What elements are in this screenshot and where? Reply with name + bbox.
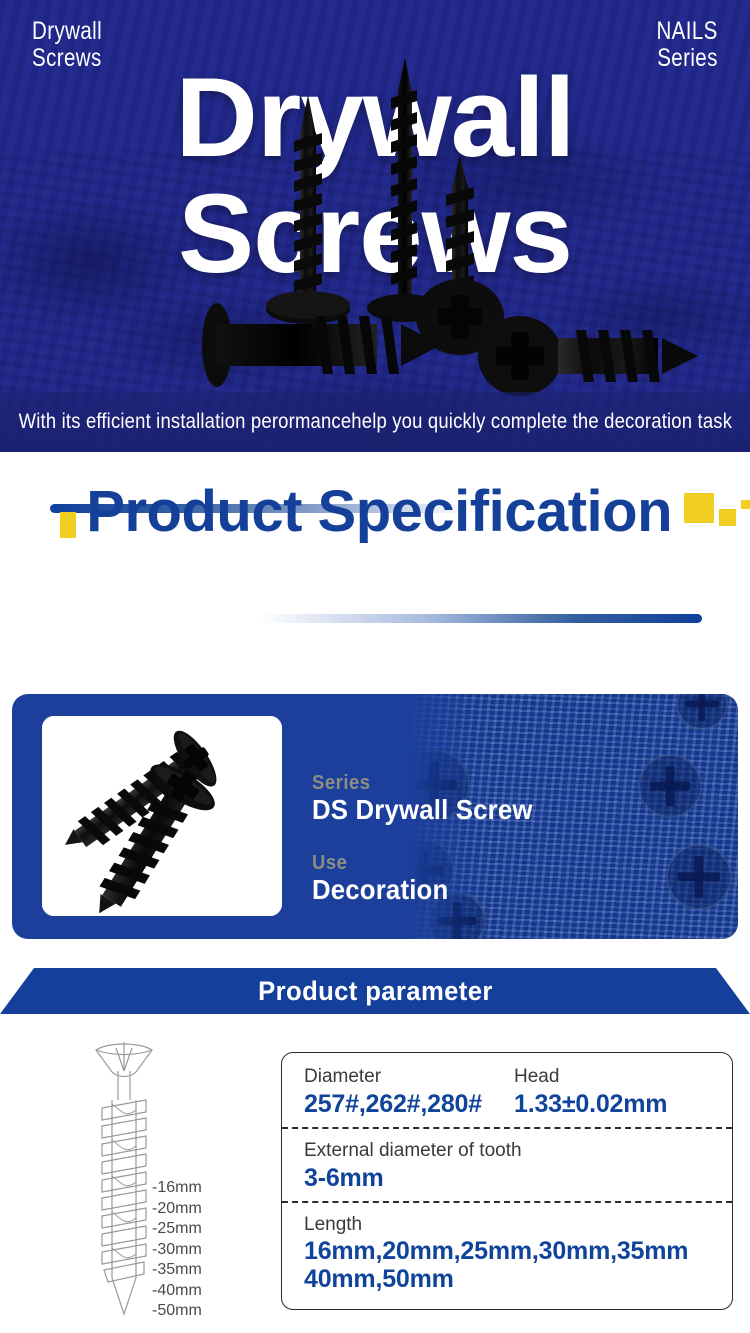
accent-square-group (684, 493, 750, 526)
cell-value-external-diameter: 3-6mm (304, 1163, 732, 1193)
table-row: Length 16mm,20mm,25mm,30mm,35mm 40mm,50m… (282, 1201, 732, 1301)
length-tick-16mm: -16mm (152, 1178, 262, 1199)
cell-label-diameter: Diameter (304, 1065, 514, 1089)
hero-corner-left-line2: Screws (32, 45, 102, 72)
product-parameter-section: -16mm -20mm -25mm -30mm -35mm -40mm -50m… (0, 1030, 750, 1330)
length-tick-20mm: -20mm (152, 1199, 262, 1220)
hero-caption-band: With its efficient installation perorman… (0, 392, 750, 452)
length-tick-35mm: -35mm (152, 1260, 262, 1281)
card-field-label-series: Series (312, 772, 533, 794)
accent-square-leading (60, 512, 76, 538)
row-divider (282, 1127, 732, 1129)
texture-phillips-head-3 (638, 754, 702, 818)
product-image (42, 716, 282, 916)
parameter-table: Diameter 257#,262#,280# Head 1.33±0.02mm… (281, 1052, 733, 1310)
cell-label-length: Length (304, 1213, 732, 1237)
product-specification-heading-section: Product Specification (0, 452, 750, 640)
hero-corner-right-line1: NAILS (657, 18, 718, 45)
accent-square-medium (719, 509, 736, 526)
product-card: Series DS Drywall Screw Use Decoration (12, 694, 738, 939)
hero-banner: Drywall Screws NAILS Series Drywall Scre… (0, 0, 750, 452)
cell-value-length-line2: 40mm,50mm (304, 1265, 732, 1293)
card-field-label-use: Use (312, 852, 533, 874)
length-tick-25mm: -25mm (152, 1219, 262, 1240)
cell-label-head: Head (514, 1065, 724, 1089)
table-row: External diameter of tooth 3-6mm (282, 1127, 732, 1201)
accent-square-large (684, 493, 714, 523)
table-cell-diameter: Diameter 257#,262#,280# (304, 1065, 514, 1119)
hero-corner-label-left: Drywall Screws (32, 18, 102, 72)
table-cell-head: Head 1.33±0.02mm (514, 1065, 724, 1119)
hero-caption-text: With its efficient installation perorman… (18, 410, 731, 434)
hero-corner-label-right: NAILS Series (657, 18, 718, 72)
length-tick-30mm: -30mm (152, 1240, 262, 1261)
table-row: Diameter 257#,262#,280# Head 1.33±0.02mm (282, 1053, 732, 1127)
card-field-value-use: Decoration (312, 874, 533, 906)
hero-corner-left-line1: Drywall (32, 18, 102, 45)
accent-square-small (741, 500, 750, 509)
product-parameter-title: Product parameter (258, 976, 493, 1007)
product-specification-title-row: Product Specification (0, 484, 750, 540)
hero-corner-right-line2: Series (657, 45, 718, 72)
length-tick-40mm: -40mm (152, 1281, 262, 1302)
cell-value-diameter: 257#,262#,280# (304, 1089, 514, 1119)
cell-value-length-line1: 16mm,20mm,25mm,30mm,35mm (304, 1237, 732, 1265)
cell-label-external-diameter: External diameter of tooth (304, 1139, 732, 1163)
product-card-info: Series DS Drywall Screw Use Decoration (312, 772, 552, 906)
length-tick-50mm: -50mm (152, 1301, 262, 1322)
cell-value-head: 1.33±0.02mm (514, 1089, 724, 1119)
product-image-screws (42, 716, 282, 916)
screw-length-tick-labels: -16mm -20mm -25mm -30mm -35mm -40mm -50m… (152, 1178, 262, 1322)
page-title: Product Specification (86, 484, 672, 540)
heading-rule-bottom (50, 614, 702, 623)
texture-phillips-head-4 (666, 844, 732, 910)
card-field-value-series: DS Drywall Screw (312, 794, 533, 826)
product-parameter-banner: Product parameter (0, 968, 750, 1014)
row-divider (282, 1201, 732, 1203)
